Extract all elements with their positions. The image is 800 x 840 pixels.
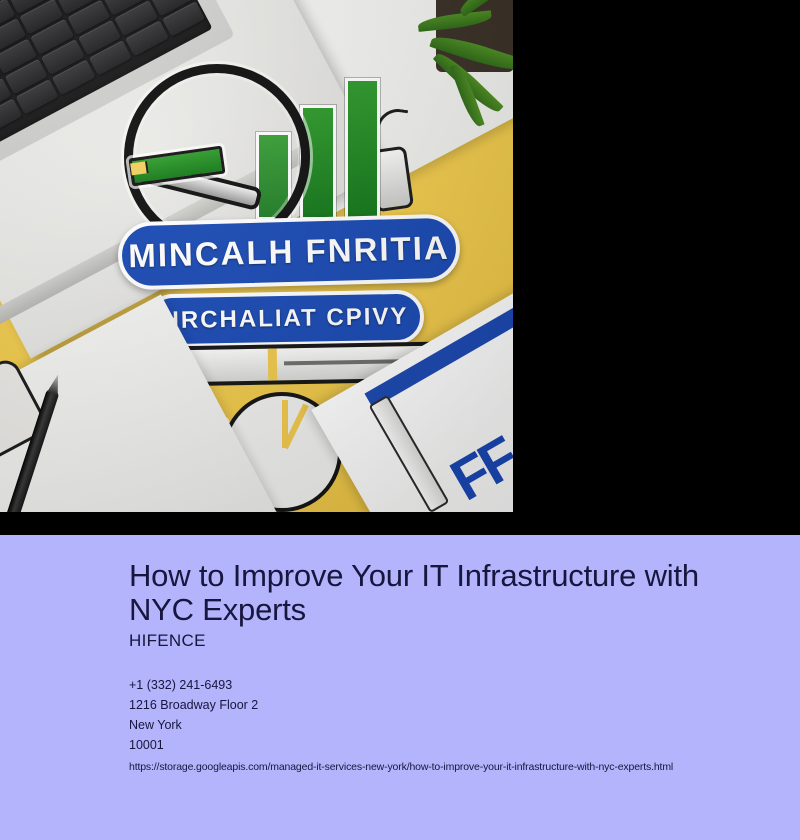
contact-zip: 10001: [129, 735, 749, 755]
bar-chart-bar: [345, 78, 380, 220]
potted-plant-icon: [398, 0, 513, 118]
hero-badge-primary: MINCALH FNRITIA: [117, 214, 461, 291]
hero-band: MINCALH FNRITIA HRCHALIAT CPIVY FF: [0, 0, 800, 535]
article-content: How to Improve Your IT Infrastructure wi…: [0, 535, 800, 840]
article-hero-image: MINCALH FNRITIA HRCHALIAT CPIVY FF: [0, 0, 513, 512]
contact-phone: +1 (332) 241-6493: [129, 675, 749, 695]
contact-block: +1 (332) 241-6493 1216 Broadway Floor 2 …: [129, 675, 749, 755]
contact-street: 1216 Broadway Floor 2: [129, 695, 749, 715]
hero-badge-secondary: HRCHALIAT CPIVY: [146, 290, 425, 349]
ruler-divider: [268, 348, 278, 380]
source-url[interactable]: https://storage.googleapis.com/managed-i…: [129, 761, 673, 773]
brand-name: HIFENCE: [129, 631, 206, 651]
page-title: How to Improve Your IT Infrastructure wi…: [129, 559, 739, 627]
plant-leaf: [429, 30, 513, 76]
plant-leaf: [417, 10, 492, 32]
contact-city: New York: [129, 715, 749, 735]
